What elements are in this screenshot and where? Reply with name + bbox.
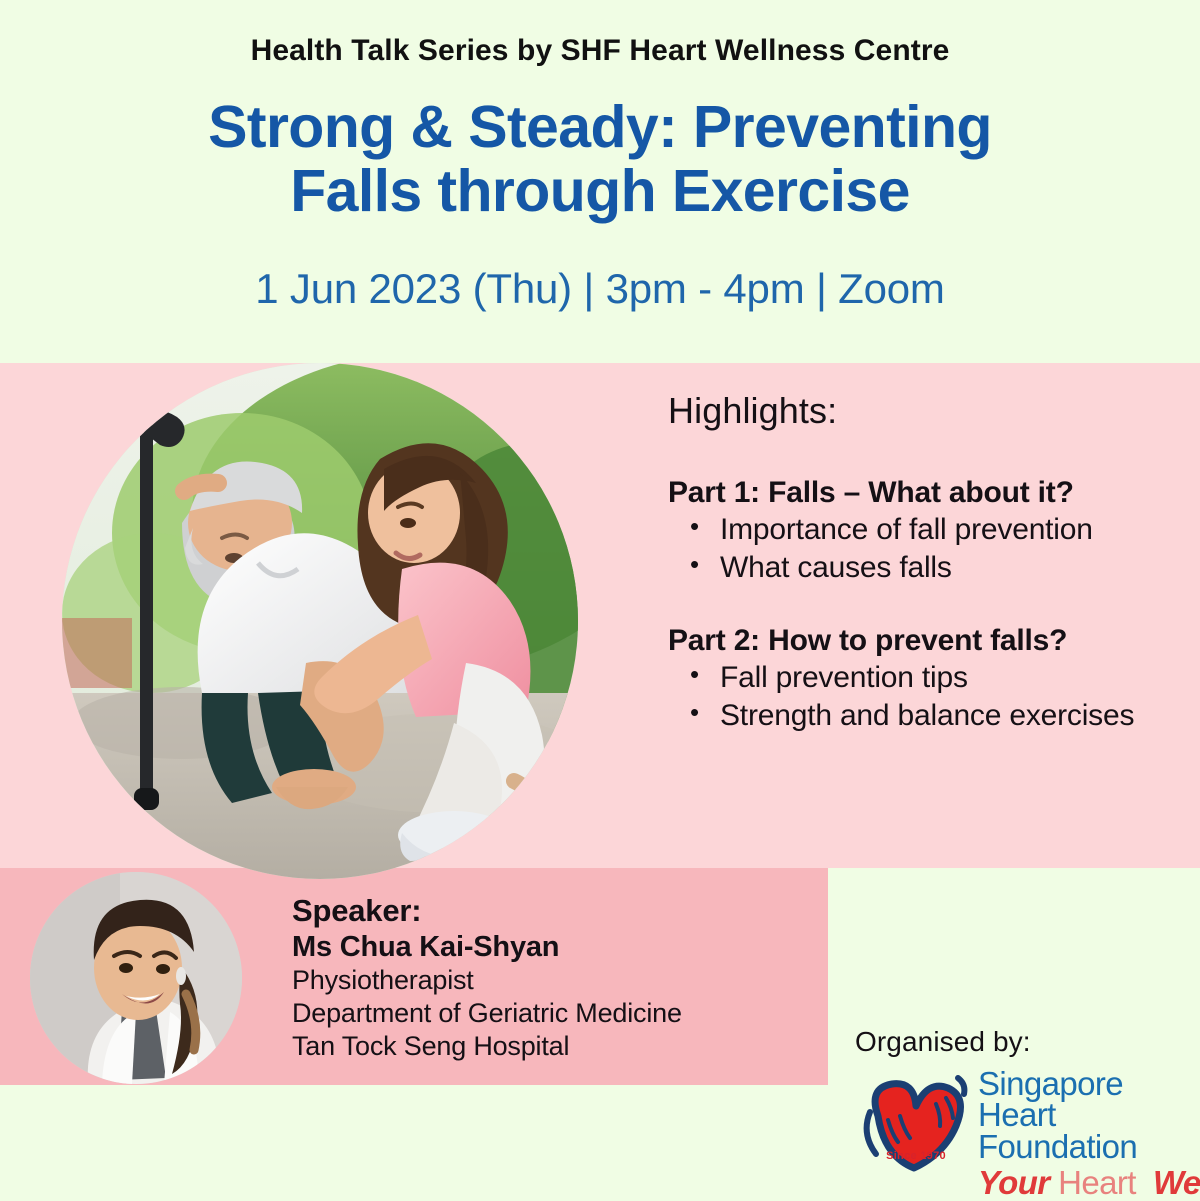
- tagline-heart: Heart: [1058, 1164, 1136, 1201]
- hero-photo: [62, 363, 578, 879]
- shf-logo-wordmark: Singapore Heart Foundation Your Heart We…: [978, 1068, 1193, 1198]
- logo-line-foundation: Foundation: [978, 1131, 1193, 1162]
- highlights-part-1: Part 1: Falls – What about it? Importanc…: [668, 476, 1168, 586]
- speaker-label: Speaker:: [292, 893, 812, 930]
- list-item: Importance of fall prevention: [716, 512, 1168, 548]
- title-line-1: Strong & Steady: Preventing: [0, 96, 1200, 160]
- heart-icon: [858, 1072, 968, 1180]
- organised-by-label: Organised by:: [855, 1026, 1031, 1058]
- logo-line-heart: Heart: [978, 1099, 1193, 1130]
- speaker-name: Ms Chua Kai-Shyan: [292, 930, 812, 965]
- list-item: What causes falls: [716, 550, 1168, 586]
- logo-line-singapore: Singapore: [978, 1068, 1193, 1099]
- part-1-bullet-list: Importance of fall prevention What cause…: [668, 512, 1168, 586]
- speaker-details: Speaker: Ms Chua Kai-Shyan Physiotherapi…: [292, 893, 812, 1063]
- poster-canvas: Health Talk Series by SHF Heart Wellness…: [0, 0, 1200, 1200]
- part-2-bullet-list: Fall prevention tips Strength and balanc…: [668, 660, 1168, 734]
- shf-logo: Since 1970 Singapore Heart Foundation Yo…: [858, 1072, 1188, 1188]
- highlights-block: Highlights: Part 1: Falls – What about i…: [668, 390, 1168, 742]
- tagline-your: Your: [978, 1164, 1050, 1201]
- highlights-part-2: Part 2: How to prevent falls? Fall preve…: [668, 624, 1168, 734]
- list-item: Fall prevention tips: [716, 660, 1168, 696]
- page-title: Strong & Steady: Preventing Falls throug…: [0, 96, 1200, 223]
- parts-spacer: [668, 594, 1168, 624]
- tagline-we: We: [1153, 1164, 1200, 1201]
- since-year: Since 1970: [864, 1150, 968, 1162]
- part-1-heading: Part 1: Falls – What about it?: [668, 476, 1168, 510]
- list-item: Strength and balance exercises: [716, 698, 1168, 734]
- speaker-department: Department of Geriatric Medicine: [292, 997, 812, 1030]
- title-line-2: Falls through Exercise: [0, 160, 1200, 224]
- part-2-heading: Part 2: How to prevent falls?: [668, 624, 1168, 658]
- speaker-role: Physiotherapist: [292, 964, 812, 997]
- speaker-hospital: Tan Tock Seng Hospital: [292, 1030, 812, 1063]
- highlights-heading: Highlights:: [668, 390, 1168, 432]
- event-datetime: 1 Jun 2023 (Thu) | 3pm - 4pm | Zoom: [0, 265, 1200, 313]
- series-subtitle: Health Talk Series by SHF Heart Wellness…: [0, 34, 1200, 68]
- header-section: Health Talk Series by SHF Heart Wellness…: [0, 0, 1200, 363]
- logo-tagline: Your Heart We Care: [978, 1167, 1193, 1198]
- speaker-avatar: [30, 872, 242, 1084]
